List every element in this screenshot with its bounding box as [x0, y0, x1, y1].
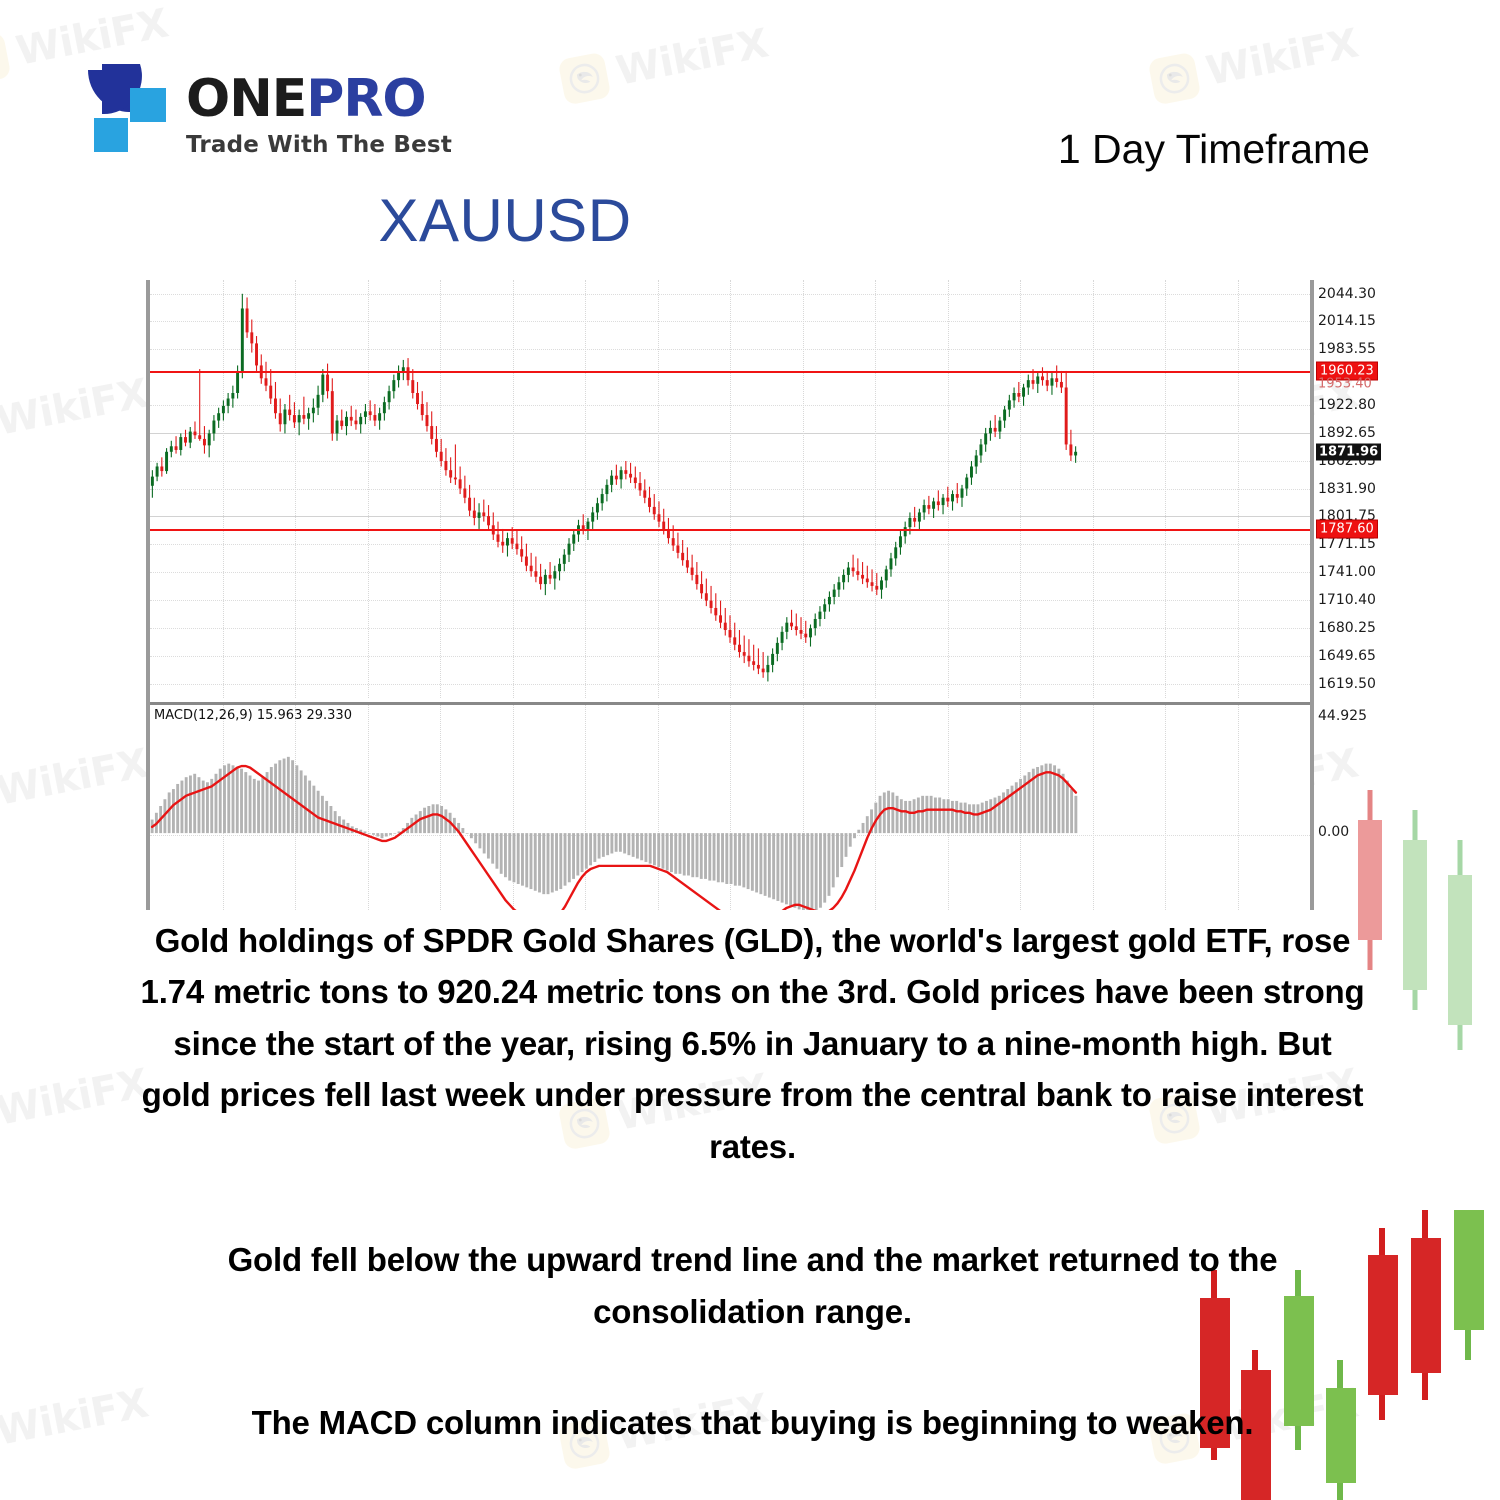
price-scale-axis[interactable]: 2044.302014.151983.551922.801892.651862.… [1318, 280, 1428, 910]
page-title: XAUUSD [0, 186, 1255, 255]
logo-pro: PRO [306, 69, 425, 129]
logo-title: ONEPRO [186, 73, 452, 125]
watermark: WikiFX [0, 1380, 152, 1465]
macd-tick-label: 44.925 [1318, 708, 1367, 724]
price-tick-label: 1619.50 [1318, 676, 1376, 692]
watermark: WikiFX [0, 740, 152, 825]
price-panel[interactable] [150, 280, 1310, 698]
price-level-line [150, 529, 1310, 531]
timeframe-label: 1 Day Timeframe [1058, 126, 1370, 173]
article-body: Gold holdings of SPDR Gold Shares (GLD),… [140, 915, 1365, 1449]
price-tick-label: 1771.15 [1318, 536, 1376, 552]
price-tick-label: 2044.30 [1318, 286, 1376, 302]
paragraph-1: Gold holdings of SPDR Gold Shares (GLD),… [140, 915, 1365, 1172]
macd-indicator-label: MACD(12,26,9) 15.963 29.330 [154, 708, 352, 723]
logo-mark-icon [78, 52, 178, 162]
paragraph-3: The MACD column indicates that buying is… [140, 1397, 1365, 1448]
logo-tagline: Trade With The Best [186, 132, 452, 158]
logo-one: ONE [186, 69, 306, 129]
price-tick-label: 1680.25 [1318, 620, 1376, 636]
price-tick-label: 2014.15 [1318, 313, 1376, 329]
chart-right-axis [1310, 280, 1314, 910]
price-tick-label: 1892.65 [1318, 425, 1376, 441]
watermark-text: WikiFX [0, 740, 152, 814]
price-tick-label: 1983.55 [1318, 341, 1376, 357]
watermark-text: WikiFX [0, 1060, 152, 1134]
price-tick-label: 1922.80 [1318, 397, 1376, 413]
price-tick-label: 1710.40 [1318, 592, 1376, 608]
price-level-line [150, 371, 1310, 373]
onepro-logo: ONEPRO Trade With The Best [78, 52, 452, 162]
watermark: WikiFX [0, 370, 152, 455]
candlestick-series [150, 280, 1310, 698]
macd-panel[interactable]: MACD(12,26,9) 15.963 29.330 [150, 702, 1310, 910]
paragraph-2: Gold fell below the upward trend line an… [140, 1234, 1365, 1337]
macd-tick-label: 0.00 [1318, 824, 1349, 840]
price-tick-label: 1831.90 [1318, 481, 1376, 497]
watermark-text: WikiFX [0, 370, 152, 444]
price-marker-badge: 1953.40 [1318, 377, 1372, 392]
macd-series [150, 705, 1310, 910]
chart-left-axis [146, 280, 150, 910]
price-tick-label: 1649.65 [1318, 648, 1376, 664]
logo-wordmark: ONEPRO Trade With The Best [186, 73, 452, 162]
price-tick-label: 1741.00 [1318, 564, 1376, 580]
trading-chart[interactable]: MACD(12,26,9) 15.963 29.330 [150, 280, 1310, 910]
price-marker-badge: 1787.60 [1316, 520, 1378, 539]
watermark-text: WikiFX [0, 1380, 152, 1454]
watermark: WikiFX [0, 1060, 152, 1145]
header: ONEPRO Trade With The Best 1 Day Timefra… [0, 0, 1500, 270]
price-marker-badge: 1871.96 [1316, 443, 1381, 460]
